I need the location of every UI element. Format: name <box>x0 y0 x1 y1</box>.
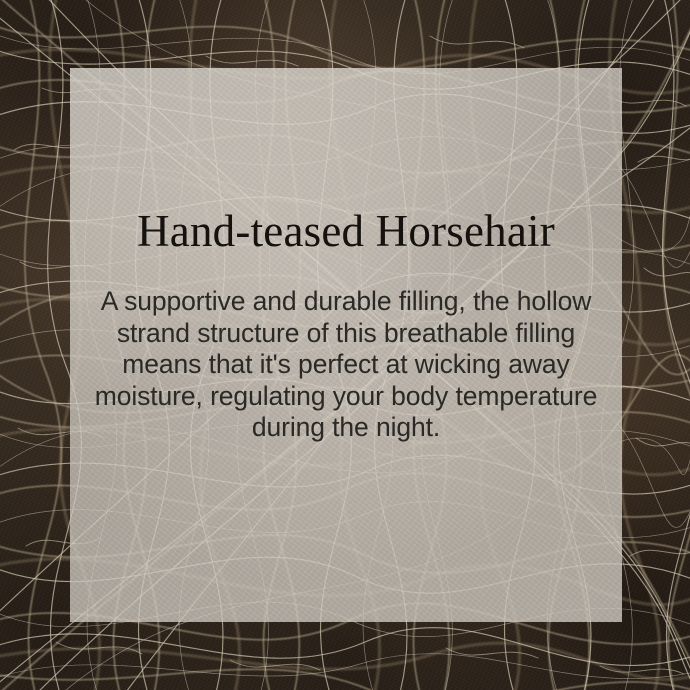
card-content: Hand-teased Horsehair A supportive and d… <box>70 68 622 622</box>
feature-image: Hand-teased Horsehair A supportive and d… <box>0 0 690 690</box>
description-text: A supportive and durable filling, the ho… <box>78 286 614 444</box>
page-title: Hand-teased Horsehair <box>70 209 622 254</box>
